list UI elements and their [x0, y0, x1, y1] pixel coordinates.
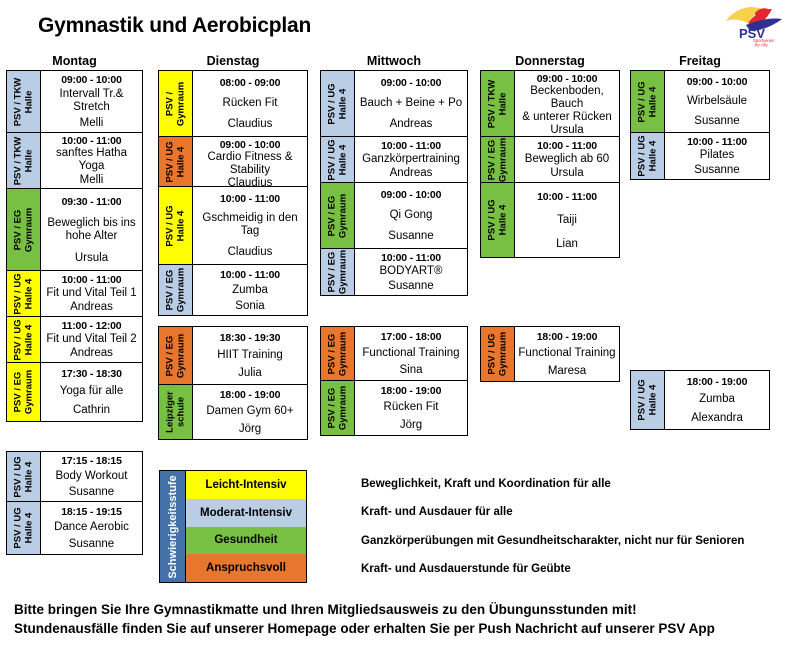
course-slot[interactable]: PSV / TKWHalle09:00 - 10:00Intervall Tr.…	[7, 71, 142, 133]
course-instructor: Jörg	[239, 423, 261, 435]
course-name: Functional Training	[362, 347, 459, 360]
day-header-donnerstag: Donnerstag	[480, 54, 620, 70]
course-details: 09:00 - 10:00Beckenboden, Bauch& unterer…	[515, 71, 619, 136]
course-slot[interactable]: Leipzigerschule18:00 - 19:00Damen Gym 60…	[159, 385, 307, 439]
course-details: 11:00 - 12:00Fit und Vital Teil 2Andreas	[41, 317, 142, 362]
venue-text: PSV / UGHalle 4	[637, 135, 658, 176]
svg-text:für Alle: für Alle	[755, 43, 768, 48]
course-details: 10:00 - 11:00PilatesSusanne	[665, 133, 769, 179]
venue-text: PSV / UGHalle 4	[487, 199, 508, 240]
course-instructor: Maresa	[548, 365, 586, 377]
course-details: 09:00 - 10:00Qi GongSusanne	[355, 183, 467, 248]
venue-label: PSV / TKWHalle	[7, 71, 41, 132]
course-slot[interactable]: PSV / UGHalle 409:00 - 10:00Bauch + Bein…	[321, 71, 467, 137]
course-slot[interactable]: PSV / UGHalle 418:00 - 19:00ZumbaAlexand…	[631, 371, 769, 429]
venue-label: PSV / UGHalle 4	[159, 187, 193, 264]
course-name: Damen Gym 60+	[206, 405, 293, 418]
venue-text: PSV / UGHalle 4	[13, 319, 34, 360]
course-name: Fit und Vital Teil 2	[46, 333, 136, 346]
course-name: Zumba	[699, 393, 735, 406]
course-slot[interactable]: PSV / UGHalle 417:15 - 18:15Body Workout…	[7, 452, 142, 502]
footer-line-1: Bitte bringen Sie Ihre Gymnastikmatte un…	[14, 600, 804, 619]
venue-label: PSV / EGGymraum	[321, 381, 355, 435]
venue-label: PSV / UGHalle 4	[631, 133, 665, 179]
course-name: Beweglich bis inshohe Alter	[47, 217, 135, 243]
venue-text: PSV / EGGymraum	[327, 386, 348, 430]
footer-line-2: Stundenausfälle finden Sie auf unserer H…	[14, 619, 804, 638]
schedule-block: PSV / TKWHalle09:00 - 10:00Beckenboden, …	[480, 70, 620, 258]
schedule-block: PSV / UGGymraum18:00 - 19:00Functional T…	[480, 326, 620, 382]
course-name: Fit und Vital Teil 1	[46, 287, 136, 300]
course-instructor: Sina	[399, 364, 422, 376]
course-slot[interactable]: PSV / EGGymraum18:00 - 19:00Rücken FitJö…	[321, 381, 467, 435]
course-instructor: Julia	[238, 367, 262, 379]
venue-text: PSV / UGHalle 4	[327, 139, 348, 180]
legend-rows: Leicht-Intensiv Moderat-Intensiv Gesundh…	[186, 471, 306, 582]
course-details: 18:30 - 19:30HIIT TrainingJulia	[193, 327, 307, 384]
schedule-block: PSV / TKWHalle09:00 - 10:00Intervall Tr.…	[6, 70, 143, 422]
course-slot[interactable]: PSV / UGHalle 410:00 - 11:00Ganzkörpertr…	[321, 137, 467, 183]
schedule-page: Gymnastik und Aerobicplan PSV Sportverei…	[0, 0, 806, 655]
legend-descriptions: Beweglichkeit, Kraft und Koordination fü…	[361, 470, 801, 583]
course-time: 18:30 - 19:30	[220, 332, 280, 344]
course-details: 17:30 - 18:30Yoga für alleCathrin	[41, 363, 142, 421]
course-instructor: Susanne	[388, 280, 433, 292]
venue-label: PSV / UGHalle 4	[7, 452, 41, 501]
course-slot[interactable]: PSV / UGHalle 409:00 - 10:00WirbelsäuleS…	[631, 71, 769, 133]
venue-text: Leipzigerschule	[165, 391, 186, 433]
course-name: Intervall Tr.& Stretch	[43, 88, 140, 114]
legend-row-moderat: Moderat-Intensiv	[186, 499, 306, 527]
venue-label: PSV / UGHalle 4	[7, 317, 41, 362]
schedule-block: PSV / UGHalle 418:00 - 19:00ZumbaAlexand…	[630, 370, 770, 430]
course-time: 11:00 - 12:00	[62, 320, 122, 332]
venue-label: PSV /Gymraum	[159, 71, 193, 136]
venue-text: PSV / UGHalle 4	[637, 379, 658, 420]
venue-label: PSV / EGGymraum	[7, 189, 41, 270]
course-time: 18:00 - 19:00	[220, 389, 280, 401]
venue-text: PSV / UGHalle 4	[13, 456, 34, 497]
course-details: 18:00 - 19:00ZumbaAlexandra	[665, 371, 769, 429]
legend-desc-gesund: Ganzkörperübungen mit Gesundheitscharakt…	[361, 527, 801, 555]
course-name: Rücken Fit	[223, 97, 278, 110]
course-slot[interactable]: PSV / TKWHalle09:00 - 10:00Beckenboden, …	[481, 71, 619, 137]
course-name: Zumba	[232, 284, 268, 297]
course-instructor: Ursula	[75, 252, 108, 264]
venue-text: PSV / UGHalle 4	[165, 141, 186, 182]
course-details: 09:00 - 10:00Cardio Fitness & StabilityC…	[193, 137, 307, 186]
course-name: Qi Gong	[390, 209, 433, 222]
course-time: 09:30 - 11:00	[62, 196, 122, 208]
venue-label: PSV / EGGymraum	[321, 183, 355, 248]
venue-label: PSV / UGHalle 4	[631, 71, 665, 132]
venue-label: PSV / UGHalle 4	[321, 137, 355, 182]
day-header-mittwoch: Mittwoch	[320, 54, 468, 70]
course-time: 17:15 - 18:15	[61, 455, 121, 467]
course-name: Beckenboden, Bauch& unterer Rücken	[517, 85, 617, 124]
legend-row-anspruch: Anspruchsvoll	[186, 554, 306, 582]
course-instructor: Susanne	[69, 538, 114, 550]
venue-text: PSV / UGHalle 4	[13, 273, 34, 314]
course-instructor: Cathrin	[73, 404, 110, 416]
venue-label: PSV / UGGymraum	[481, 327, 515, 381]
venue-text: PSV / UGHalle 4	[327, 83, 348, 124]
venue-label: PSV / TKWHalle	[481, 71, 515, 136]
venue-label: PSV / UGHalle 4	[631, 371, 665, 429]
venue-text: PSV / UGGymraum	[487, 332, 508, 376]
course-instructor: Melli	[80, 117, 104, 129]
course-time: 18:15 - 19:15	[61, 506, 121, 518]
course-name: Ganzkörpertraining	[362, 153, 460, 166]
venue-label: PSV / UGHalle 4	[159, 137, 193, 186]
day-column-mittwoch: MittwochPSV / UGHalle 409:00 - 10:00Bauc…	[320, 54, 468, 70]
course-instructor: Claudius	[228, 246, 273, 258]
course-instructor: Claudius	[228, 118, 273, 130]
course-details: 10:00 - 11:00Fit und Vital Teil 1Andreas	[41, 271, 142, 316]
day-header-dienstag: Dienstag	[158, 54, 308, 70]
venue-label: Leipzigerschule	[159, 385, 193, 439]
venue-label: PSV / TKWHalle	[7, 133, 41, 188]
venue-text: PSV / EGGymraum	[327, 250, 348, 294]
course-instructor: Andreas	[390, 118, 433, 130]
course-time: 18:00 - 19:00	[687, 376, 747, 388]
course-slot[interactable]: PSV / UGHalle 410:00 - 11:00PilatesSusan…	[631, 133, 769, 179]
schedule-block: PSV / UGHalle 417:15 - 18:15Body Workout…	[6, 451, 143, 555]
schedule-block: PSV /Gymraum08:00 - 09:00Rücken FitClaud…	[158, 70, 308, 316]
course-name: Yoga für alle	[60, 385, 124, 398]
course-name: HIIT Training	[217, 349, 283, 362]
course-name: Rücken Fit	[384, 401, 439, 414]
venue-text: PSV / EGGymraum	[487, 137, 508, 181]
course-details: 09:00 - 10:00Bauch + Beine + PoAndreas	[355, 71, 467, 136]
venue-text: PSV / UGHalle 4	[637, 81, 658, 122]
course-slot[interactable]: PSV / UGHalle 411:00 - 12:00Fit und Vita…	[7, 317, 142, 363]
course-name: Pilates	[700, 149, 735, 162]
course-name: Functional Training	[518, 347, 615, 360]
course-details: 10:00 - 11:00sanftes Hatha YogaMelli	[41, 133, 142, 188]
venue-label: PSV / EGGymraum	[7, 363, 41, 421]
course-time: 10:00 - 11:00	[537, 140, 597, 152]
course-slot[interactable]: PSV / UGGymraum18:00 - 19:00Functional T…	[481, 327, 619, 381]
venue-label: PSV / EGGymraum	[321, 327, 355, 380]
course-instructor: Sonia	[235, 300, 264, 312]
schedule-block: PSV / UGHalle 409:00 - 10:00Bauch + Bein…	[320, 70, 468, 296]
venue-text: PSV /Gymraum	[165, 81, 186, 125]
course-slot[interactable]: PSV / TKWHalle10:00 - 11:00sanftes Hatha…	[7, 133, 142, 189]
course-name: Body Workout	[55, 470, 127, 483]
course-slot[interactable]: PSV / UGHalle 410:00 - 11:00TaijiLian	[481, 183, 619, 257]
legend-row-leicht: Leicht-Intensiv	[186, 471, 306, 499]
day-header-montag: Montag	[6, 54, 143, 70]
course-time: 10:00 - 11:00	[537, 191, 597, 203]
venue-text: PSV / TKWHalle	[13, 77, 34, 126]
schedule-block: PSV / UGHalle 409:00 - 10:00WirbelsäuleS…	[630, 70, 770, 180]
venue-text: PSV / EGGymraum	[165, 268, 186, 312]
venue-text: PSV / TKWHalle	[13, 136, 34, 185]
legend-axis-label: Schwierigkeitsstufe	[167, 475, 179, 578]
course-slot[interactable]: PSV / EGGymraum10:00 - 11:00Beweglich ab…	[481, 137, 619, 183]
venue-label: PSV / UGHalle 4	[481, 183, 515, 257]
venue-label: PSV / EGGymraum	[159, 327, 193, 384]
course-details: 18:15 - 19:15Dance AerobicSusanne	[41, 502, 142, 554]
psv-logo: PSV Sportverein für Alle	[722, 3, 790, 49]
course-details: 10:00 - 11:00ZumbaSonia	[193, 265, 307, 315]
venue-text: PSV / EGGymraum	[13, 370, 34, 414]
course-details: 10:00 - 11:00Beweglich ab 60Ursula	[515, 137, 619, 182]
course-name: Dance Aerobic	[54, 521, 129, 534]
venue-text: PSV / TKWHalle	[487, 79, 508, 128]
course-instructor: Andreas	[390, 167, 433, 179]
course-slot[interactable]: PSV / EGGymraum18:30 - 19:30HIIT Trainin…	[159, 327, 307, 385]
day-column-montag: MontagPSV / TKWHalle09:00 - 10:00Interva…	[6, 54, 143, 70]
course-details: 17:00 - 18:00Functional TrainingSina	[355, 327, 467, 380]
course-time: 10:00 - 11:00	[220, 269, 280, 281]
course-instructor: Susanne	[694, 164, 739, 176]
course-instructor: Susanne	[69, 486, 114, 498]
course-time: 17:00 - 18:00	[381, 331, 441, 343]
course-time: 09:00 - 10:00	[537, 73, 597, 85]
course-details: 09:00 - 10:00Intervall Tr.& StretchMelli	[41, 71, 142, 132]
legend-desc-anspruch: Kraft- und Ausdauerstunde für Geübte	[361, 555, 801, 583]
course-time: 17:30 - 18:30	[61, 368, 121, 380]
course-instructor: Lian	[556, 238, 578, 250]
venue-text: PSV / EGGymraum	[327, 193, 348, 237]
course-slot[interactable]: PSV / UGHalle 410:00 - 11:00Gschmeidig i…	[159, 187, 307, 265]
day-column-freitag: FreitagPSV / UGHalle 409:00 - 10:00Wirbe…	[630, 54, 770, 70]
course-instructor: Andreas	[70, 301, 113, 313]
legend-desc-leicht: Beweglichkeit, Kraft und Koordination fü…	[361, 470, 801, 498]
course-details: 10:00 - 11:00Gschmeidig in den TagClaudi…	[193, 187, 307, 264]
course-time: 09:00 - 10:00	[381, 189, 441, 201]
course-time: 10:00 - 11:00	[381, 252, 441, 264]
venue-label: PSV / UGHalle 4	[7, 502, 41, 554]
course-instructor: Melli	[80, 174, 104, 186]
course-details: 10:00 - 11:00GanzkörpertrainingAndreas	[355, 137, 467, 182]
course-time: 09:00 - 10:00	[220, 139, 280, 151]
course-instructor: Jörg	[400, 419, 422, 431]
course-slot[interactable]: PSV / EGGymraum09:00 - 10:00Qi GongSusan…	[321, 183, 467, 249]
course-name: Cardio Fitness & Stability	[195, 151, 305, 177]
course-name: sanftes Hatha Yoga	[43, 147, 140, 173]
course-time: 08:00 - 09:00	[220, 77, 280, 89]
course-time: 10:00 - 11:00	[381, 140, 441, 152]
legend-box: Schwierigkeitsstufe Leicht-Intensiv Mode…	[159, 470, 307, 583]
course-name: Taiji	[557, 214, 577, 227]
schedule-block: PSV / EGGymraum17:00 - 18:00Functional T…	[320, 326, 468, 436]
course-name: Bauch + Beine + Po	[360, 97, 462, 110]
course-time: 09:00 - 10:00	[381, 77, 441, 89]
venue-label: PSV / EGGymraum	[159, 265, 193, 315]
footer-notes: Bitte bringen Sie Ihre Gymnastikmatte un…	[14, 600, 804, 638]
course-instructor: Ursula	[550, 167, 583, 179]
course-name: BODYART®	[379, 265, 442, 278]
course-name: Gschmeidig in den Tag	[195, 212, 305, 238]
course-name: Wirbelsäule	[687, 95, 747, 108]
course-slot[interactable]: PSV / EGGymraum10:00 - 11:00BODYART®Susa…	[321, 249, 467, 295]
legend-desc-moderat: Kraft- und Ausdauer für alle	[361, 498, 801, 526]
course-slot[interactable]: PSV / EGGymraum17:00 - 18:00Functional T…	[321, 327, 467, 381]
day-header-freitag: Freitag	[630, 54, 770, 70]
course-details: 18:00 - 19:00Rücken FitJörg	[355, 381, 467, 435]
course-time: 09:00 - 10:00	[61, 74, 121, 86]
course-slot[interactable]: PSV / EGGymraum09:30 - 11:00Beweglich bi…	[7, 189, 142, 271]
venue-text: PSV / EGGymraum	[165, 333, 186, 377]
day-column-donnerstag: DonnerstagPSV / TKWHalle09:00 - 10:00Bec…	[480, 54, 620, 70]
course-slot[interactable]: PSV / EGGymraum10:00 - 11:00ZumbaSonia	[159, 265, 307, 315]
course-details: 10:00 - 11:00BODYART®Susanne	[355, 249, 467, 295]
course-instructor: Andreas	[70, 347, 113, 359]
course-details: 10:00 - 11:00TaijiLian	[515, 183, 619, 257]
course-details: 18:00 - 19:00Functional TrainingMaresa	[515, 327, 619, 381]
day-column-dienstag: DienstagPSV /Gymraum08:00 - 09:00Rücken …	[158, 54, 308, 70]
course-time: 10:00 - 11:00	[62, 274, 122, 286]
course-time: 10:00 - 11:00	[687, 136, 747, 148]
course-instructor: Ursula	[550, 124, 583, 136]
course-slot[interactable]: PSV / UGHalle 410:00 - 11:00Fit und Vita…	[7, 271, 142, 317]
course-instructor: Susanne	[388, 230, 433, 242]
course-name: Beweglich ab 60	[525, 153, 609, 166]
course-time: 18:00 - 19:00	[381, 385, 441, 397]
course-details: 09:30 - 11:00Beweglich bis inshohe Alter…	[41, 189, 142, 270]
course-time: 10:00 - 11:00	[220, 193, 280, 205]
course-details: 08:00 - 09:00Rücken FitClaudius	[193, 71, 307, 136]
page-title: Gymnastik und Aerobicplan	[38, 14, 311, 38]
venue-text: PSV / UGHalle 4	[165, 205, 186, 246]
venue-label: PSV / UGHalle 4	[321, 71, 355, 136]
course-details: 18:00 - 19:00Damen Gym 60+Jörg	[193, 385, 307, 439]
course-instructor: Alexandra	[691, 412, 743, 424]
course-slot[interactable]: PSV / UGHalle 409:00 - 10:00Cardio Fitne…	[159, 137, 307, 187]
venue-text: PSV / EGGymraum	[13, 207, 34, 251]
course-details: 09:00 - 10:00WirbelsäuleSusanne	[665, 71, 769, 132]
course-slot[interactable]: PSV / UGHalle 418:15 - 19:15Dance Aerobi…	[7, 502, 142, 554]
venue-text: PSV / EGGymraum	[327, 331, 348, 375]
course-slot[interactable]: PSV /Gymraum08:00 - 09:00Rücken FitClaud…	[159, 71, 307, 137]
legend-row-gesund: Gesundheit	[186, 527, 306, 555]
venue-label: PSV / EGGymraum	[321, 249, 355, 295]
venue-text: PSV / UGHalle 4	[13, 507, 34, 548]
course-time: 18:00 - 19:00	[537, 331, 597, 343]
course-time: 10:00 - 11:00	[62, 135, 122, 147]
course-details: 17:15 - 18:15Body WorkoutSusanne	[41, 452, 142, 501]
course-instructor: Susanne	[694, 115, 739, 127]
legend-axis: Schwierigkeitsstufe	[160, 471, 186, 582]
course-time: 09:00 - 10:00	[687, 76, 747, 88]
schedule-block: PSV / EGGymraum18:30 - 19:30HIIT Trainin…	[158, 326, 308, 440]
venue-label: PSV / EGGymraum	[481, 137, 515, 182]
venue-label: PSV / UGHalle 4	[7, 271, 41, 316]
course-slot[interactable]: PSV / EGGymraum17:30 - 18:30Yoga für all…	[7, 363, 142, 421]
